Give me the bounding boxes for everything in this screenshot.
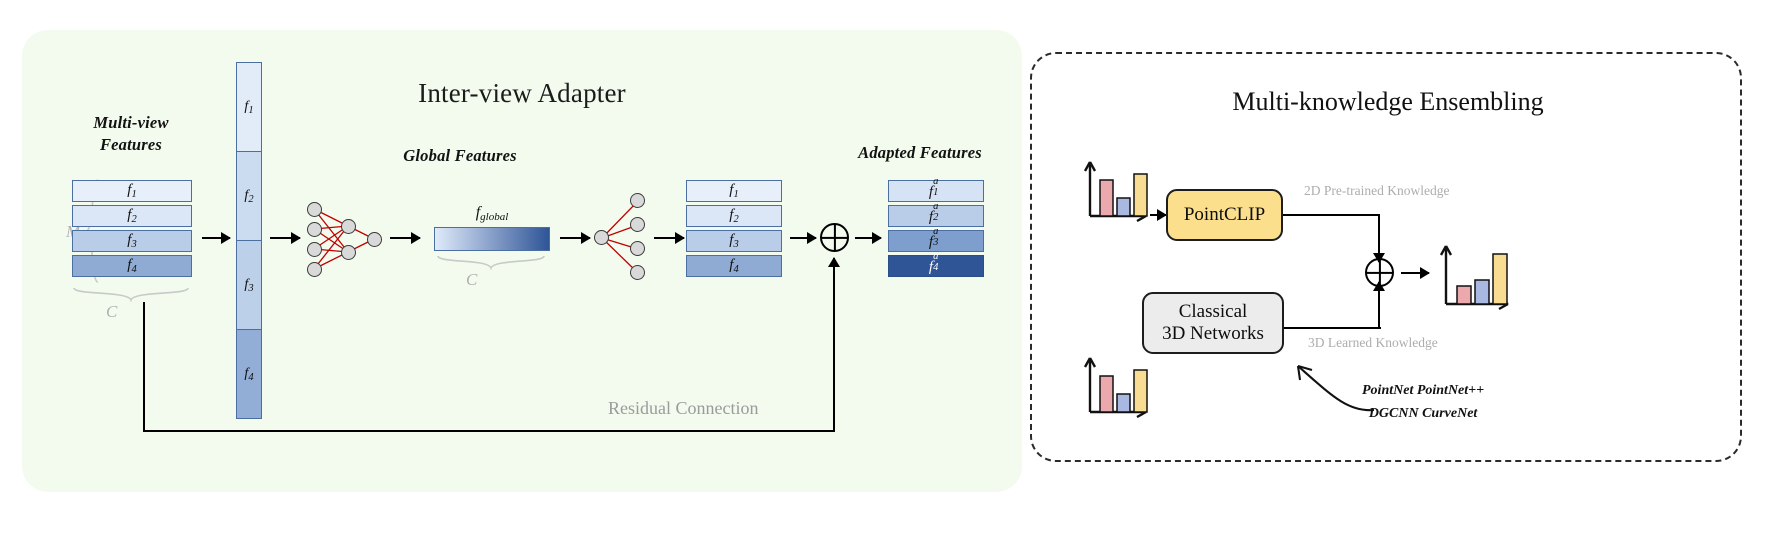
diagram-root: Inter-view Adapter Multi-view Features M…	[0, 0, 1766, 550]
concat-cell: f2	[236, 151, 262, 241]
concat-cell: f3	[236, 240, 262, 330]
mlp-neuron	[630, 193, 645, 208]
mlp-output-feature-box: f3	[686, 230, 782, 252]
page-title: Inter-view Adapter	[22, 78, 1022, 109]
multi-knowledge-ensembling-panel: Multi-knowledge Ensembling PointCLIP	[1030, 52, 1742, 462]
mlp-neuron	[630, 265, 645, 280]
classical-networks-label-line1: Classical	[1179, 301, 1248, 323]
network-names: PointNet PointNet++ DGCNN CurveNet	[1362, 379, 1484, 425]
classical-3d-networks-box[interactable]: Classical 3D Networks	[1142, 292, 1284, 354]
mlp-neuron	[307, 262, 322, 277]
multiview-feature-box: f4	[72, 255, 192, 277]
multi-view-features-label: Multi-view Features	[56, 112, 206, 157]
adapted-feature-box: f1a	[888, 180, 984, 202]
3d-knowledge-label: 3D Learned Knowledge	[1308, 335, 1438, 351]
net-to-ensemble-arrow	[1378, 282, 1380, 329]
mlp-neuron	[630, 241, 645, 256]
mlp-output-feature-box: f4	[686, 255, 782, 277]
adapted-feature-box: f2a	[888, 205, 984, 227]
mlp-neuron	[367, 232, 382, 247]
pointclip-label: PointCLIP	[1184, 204, 1265, 226]
residual-connection-arrow	[833, 258, 835, 432]
clip-input-histogram-icon	[1080, 154, 1154, 222]
flow-arrow	[855, 237, 881, 239]
clip-to-ensemble-arrow	[1378, 214, 1380, 262]
ensemble-output-arrow	[1401, 272, 1429, 274]
clip-to-ensemble-line	[1283, 214, 1380, 216]
residual-add-icon	[820, 223, 849, 252]
mlp-neuron	[307, 202, 322, 217]
residual-connection-line	[143, 302, 145, 432]
ensemble-output-histogram-icon	[1436, 238, 1516, 312]
classical-networks-label-line2: 3D Networks	[1162, 323, 1264, 345]
global-feature-bar	[434, 227, 550, 251]
brace-c-global	[436, 254, 548, 272]
network-names-row2: DGCNN CurveNet	[1362, 402, 1484, 425]
net-input-histogram-icon	[1080, 350, 1154, 418]
ensemble-add-icon	[1365, 258, 1394, 287]
mlp-output-feature-box: f2	[686, 205, 782, 227]
adapted-feature-box: f4a	[888, 255, 984, 277]
adapted-features-label: Adapted Features	[812, 142, 1028, 164]
flow-arrow	[654, 237, 684, 239]
brace-c	[72, 286, 192, 304]
clip-input-arrow	[1150, 214, 1166, 216]
network-names-row1: PointNet PointNet++	[1362, 379, 1484, 402]
dimension-label-c-global: C	[466, 270, 477, 290]
f-global-label: fglobal	[432, 204, 552, 223]
concat-cell: f4	[236, 329, 262, 419]
flow-arrow	[270, 237, 300, 239]
mlp-neuron	[307, 222, 322, 237]
flow-arrow	[202, 237, 230, 239]
net-to-ensemble-line	[1284, 327, 1381, 329]
multiview-feature-box: f3	[72, 230, 192, 252]
pointclip-box[interactable]: PointCLIP	[1166, 189, 1283, 241]
mlp-output-feature-box: f1	[686, 180, 782, 202]
dimension-label-c-left: C	[106, 302, 117, 322]
mlp-neuron	[341, 245, 356, 260]
inter-view-adapter-panel: Inter-view Adapter Multi-view Features M…	[22, 30, 1022, 492]
page-title-right: Multi-knowledge Ensembling	[1032, 87, 1744, 117]
global-features-label: Global Features	[370, 145, 550, 167]
concat-cell: f1	[236, 62, 262, 152]
mlp-neuron	[307, 242, 322, 257]
adapted-feature-box: f3a	[888, 230, 984, 252]
flow-arrow	[790, 237, 816, 239]
multiview-feature-box: f2	[72, 205, 192, 227]
mlp-neuron	[594, 230, 609, 245]
flow-arrow	[560, 237, 590, 239]
mlp-neuron	[630, 217, 645, 232]
residual-connection-label: Residual Connection	[608, 398, 758, 419]
flow-arrow	[390, 237, 420, 239]
multiview-feature-box: f1	[72, 180, 192, 202]
mlp-neuron	[341, 219, 356, 234]
residual-connection-line	[143, 430, 834, 432]
2d-knowledge-label: 2D Pre-trained Knowledge	[1304, 183, 1449, 199]
